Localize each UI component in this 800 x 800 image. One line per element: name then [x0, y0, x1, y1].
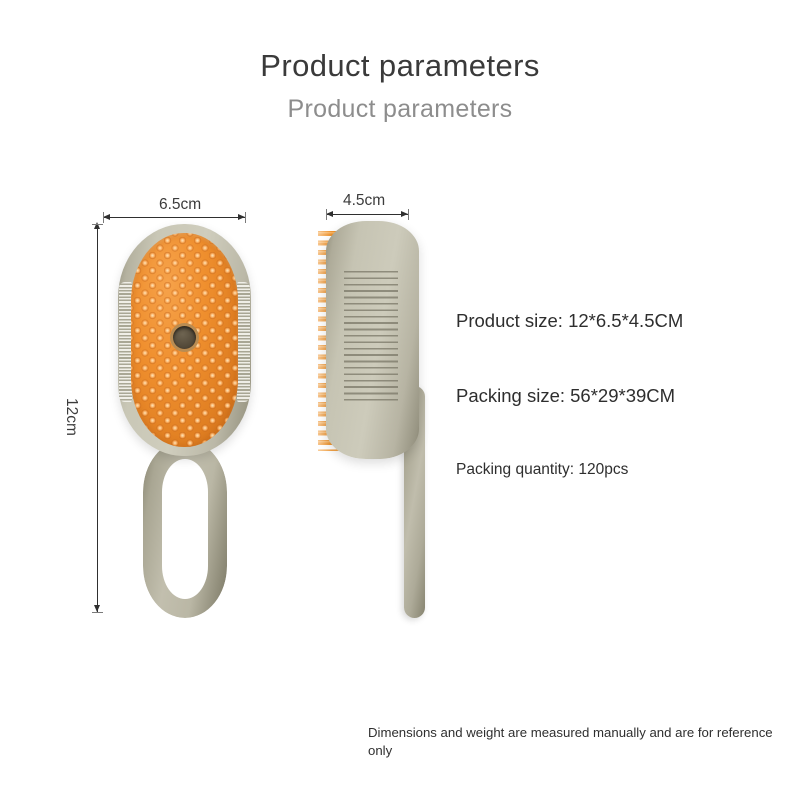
product-front-view	[118, 224, 251, 456]
product-steam-hole	[173, 326, 196, 349]
dimension-line-width-side	[326, 214, 408, 215]
dimension-tick-front-left	[103, 212, 104, 223]
arrow-down-icon	[94, 605, 100, 612]
dimension-label-width-side: 4.5cm	[343, 192, 385, 210]
spec-product-size: Product size: 12*6.5*4.5CM	[456, 310, 683, 332]
spec-packing-quantity: Packing quantity: 120pcs	[456, 461, 628, 479]
product-side-view	[318, 221, 430, 459]
spec-packing-size: Packing size: 56*29*39CM	[456, 385, 675, 407]
dimension-label-height: 12cm	[62, 398, 80, 436]
dimension-tick-side-left	[326, 209, 327, 220]
arrow-right-icon	[238, 214, 245, 220]
dimension-tick-height-top	[92, 224, 103, 225]
arrow-right-icon	[401, 211, 408, 217]
product-silicone-pad	[131, 233, 238, 447]
product-front-handle-loop	[143, 440, 227, 618]
dimension-line-width-front	[103, 217, 245, 218]
page-subtitle: Product parameters	[0, 95, 800, 124]
dimension-tick-side-right	[408, 209, 409, 220]
page-title: Product parameters	[0, 48, 800, 84]
product-side-body	[326, 221, 419, 459]
product-side-grip-ridges	[344, 271, 398, 403]
dimension-line-height	[97, 224, 98, 612]
dimension-tick-front-right	[245, 212, 246, 223]
dimension-tick-height-bottom	[92, 612, 103, 613]
arrow-left-icon	[326, 211, 333, 217]
footer-disclaimer: Dimensions and weight are measured manua…	[368, 724, 788, 760]
comb-teeth-right	[237, 282, 250, 402]
arrow-left-icon	[103, 214, 110, 220]
product-parameters-figure: Product parameters Product parameters 6.…	[0, 0, 800, 800]
dimension-label-width-front: 6.5cm	[159, 196, 201, 214]
